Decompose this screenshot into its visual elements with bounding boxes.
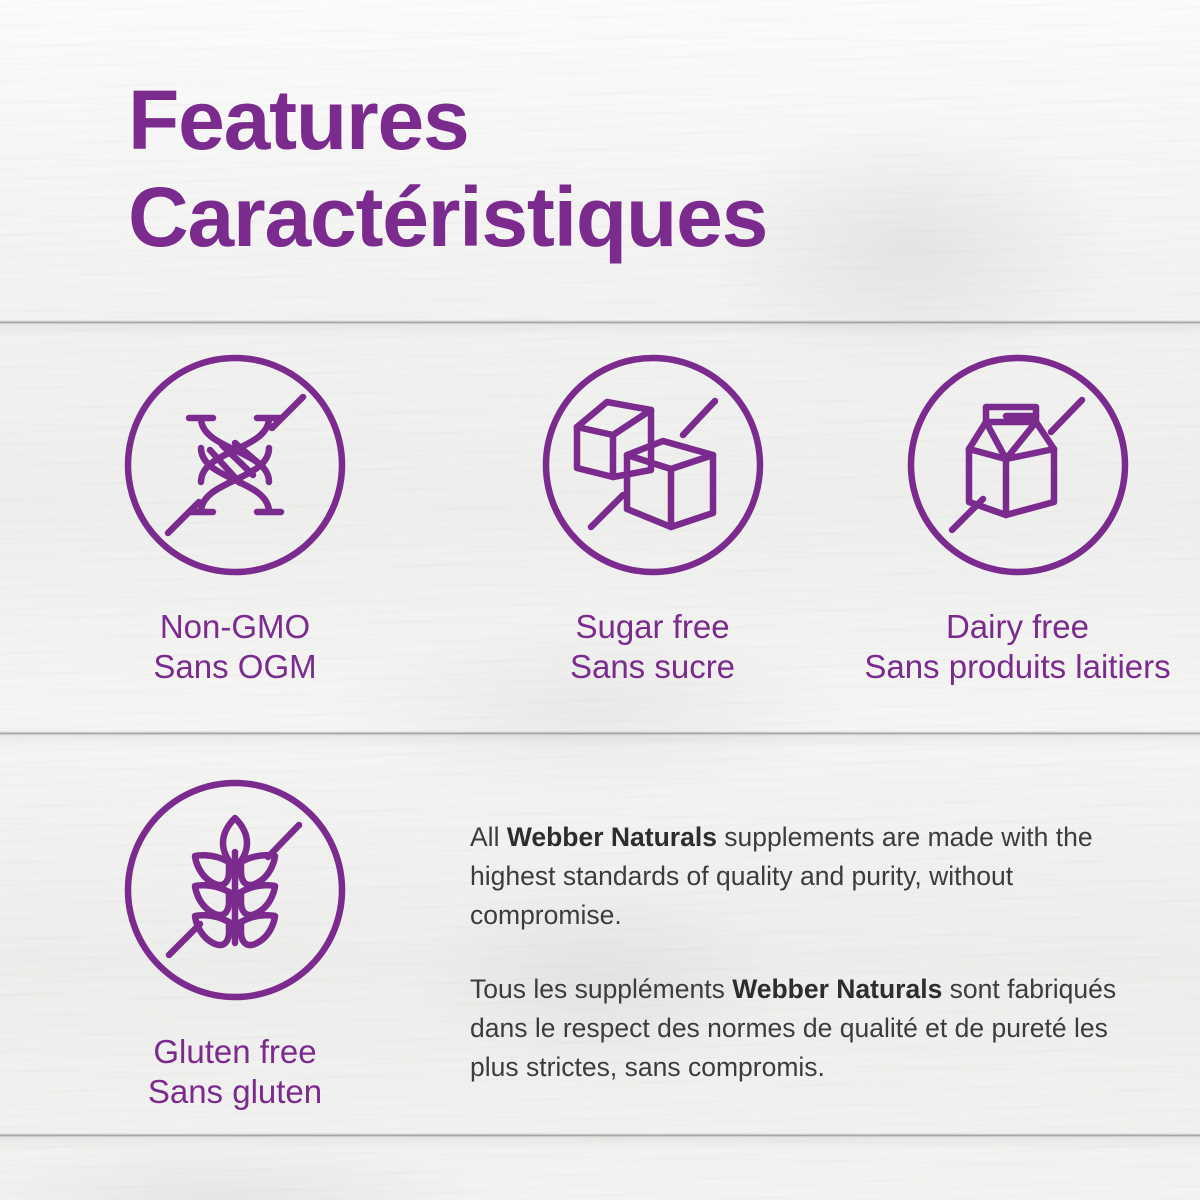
feature-label-sugar-free-en: Sugar free <box>570 607 735 647</box>
brand-name-en: Webber Naturals <box>507 822 717 852</box>
paragraph-french-before: Tous les suppléments <box>470 974 732 1004</box>
plank-seam-2 <box>0 731 1200 736</box>
feature-label-sugar-free-fr: Sans sucre <box>570 647 735 687</box>
features-infographic: Features Caractéristiques <box>0 0 1200 1200</box>
title-line-english: Features <box>128 72 767 169</box>
no-gluten-wheat-icon <box>125 780 345 1000</box>
brand-name-fr: Webber Naturals <box>732 974 942 1004</box>
paragraph-english: All Webber Naturals supplements are made… <box>470 818 1130 936</box>
feature-dairy-free: Dairy free Sans produits laitiers <box>835 355 1200 688</box>
feature-label-dairy-free: Dairy free Sans produits laitiers <box>864 607 1170 688</box>
feature-label-sugar-free: Sugar free Sans sucre <box>570 607 735 688</box>
feature-sugar-free: Sugar free Sans sucre <box>470 355 835 688</box>
no-gmo-dna-icon <box>125 355 345 575</box>
feature-non-gmo: Non-GMO Sans OGM <box>0 355 470 688</box>
feature-label-dairy-free-en: Dairy free <box>864 607 1170 647</box>
page-title: Features Caractéristiques <box>128 72 767 267</box>
feature-label-dairy-free-fr: Sans produits laitiers <box>864 647 1170 687</box>
feature-label-gluten-free: Gluten free Sans gluten <box>148 1032 322 1113</box>
features-row-bottom: Gluten free Sans gluten All Webber Natur… <box>0 780 1200 1113</box>
paragraph-english-before: All <box>470 822 507 852</box>
feature-label-gluten-free-en: Gluten free <box>148 1032 322 1072</box>
body-copy: All Webber Naturals supplements are made… <box>470 780 1130 1087</box>
no-sugar-cubes-icon <box>543 355 763 575</box>
feature-label-non-gmo-en: Non-GMO <box>153 607 316 647</box>
feature-label-non-gmo: Non-GMO Sans OGM <box>153 607 316 688</box>
plank-seam-3 <box>0 1133 1200 1138</box>
plank-seam-1 <box>0 320 1200 325</box>
features-row-top: Non-GMO Sans OGM <box>0 355 1200 688</box>
feature-gluten-free: Gluten free Sans gluten <box>0 780 470 1113</box>
paragraph-french: Tous les suppléments Webber Naturals son… <box>470 970 1130 1088</box>
no-dairy-milk-carton-icon <box>908 355 1128 575</box>
title-line-french: Caractéristiques <box>128 169 767 266</box>
feature-label-non-gmo-fr: Sans OGM <box>153 647 316 687</box>
feature-label-gluten-free-fr: Sans gluten <box>148 1072 322 1112</box>
